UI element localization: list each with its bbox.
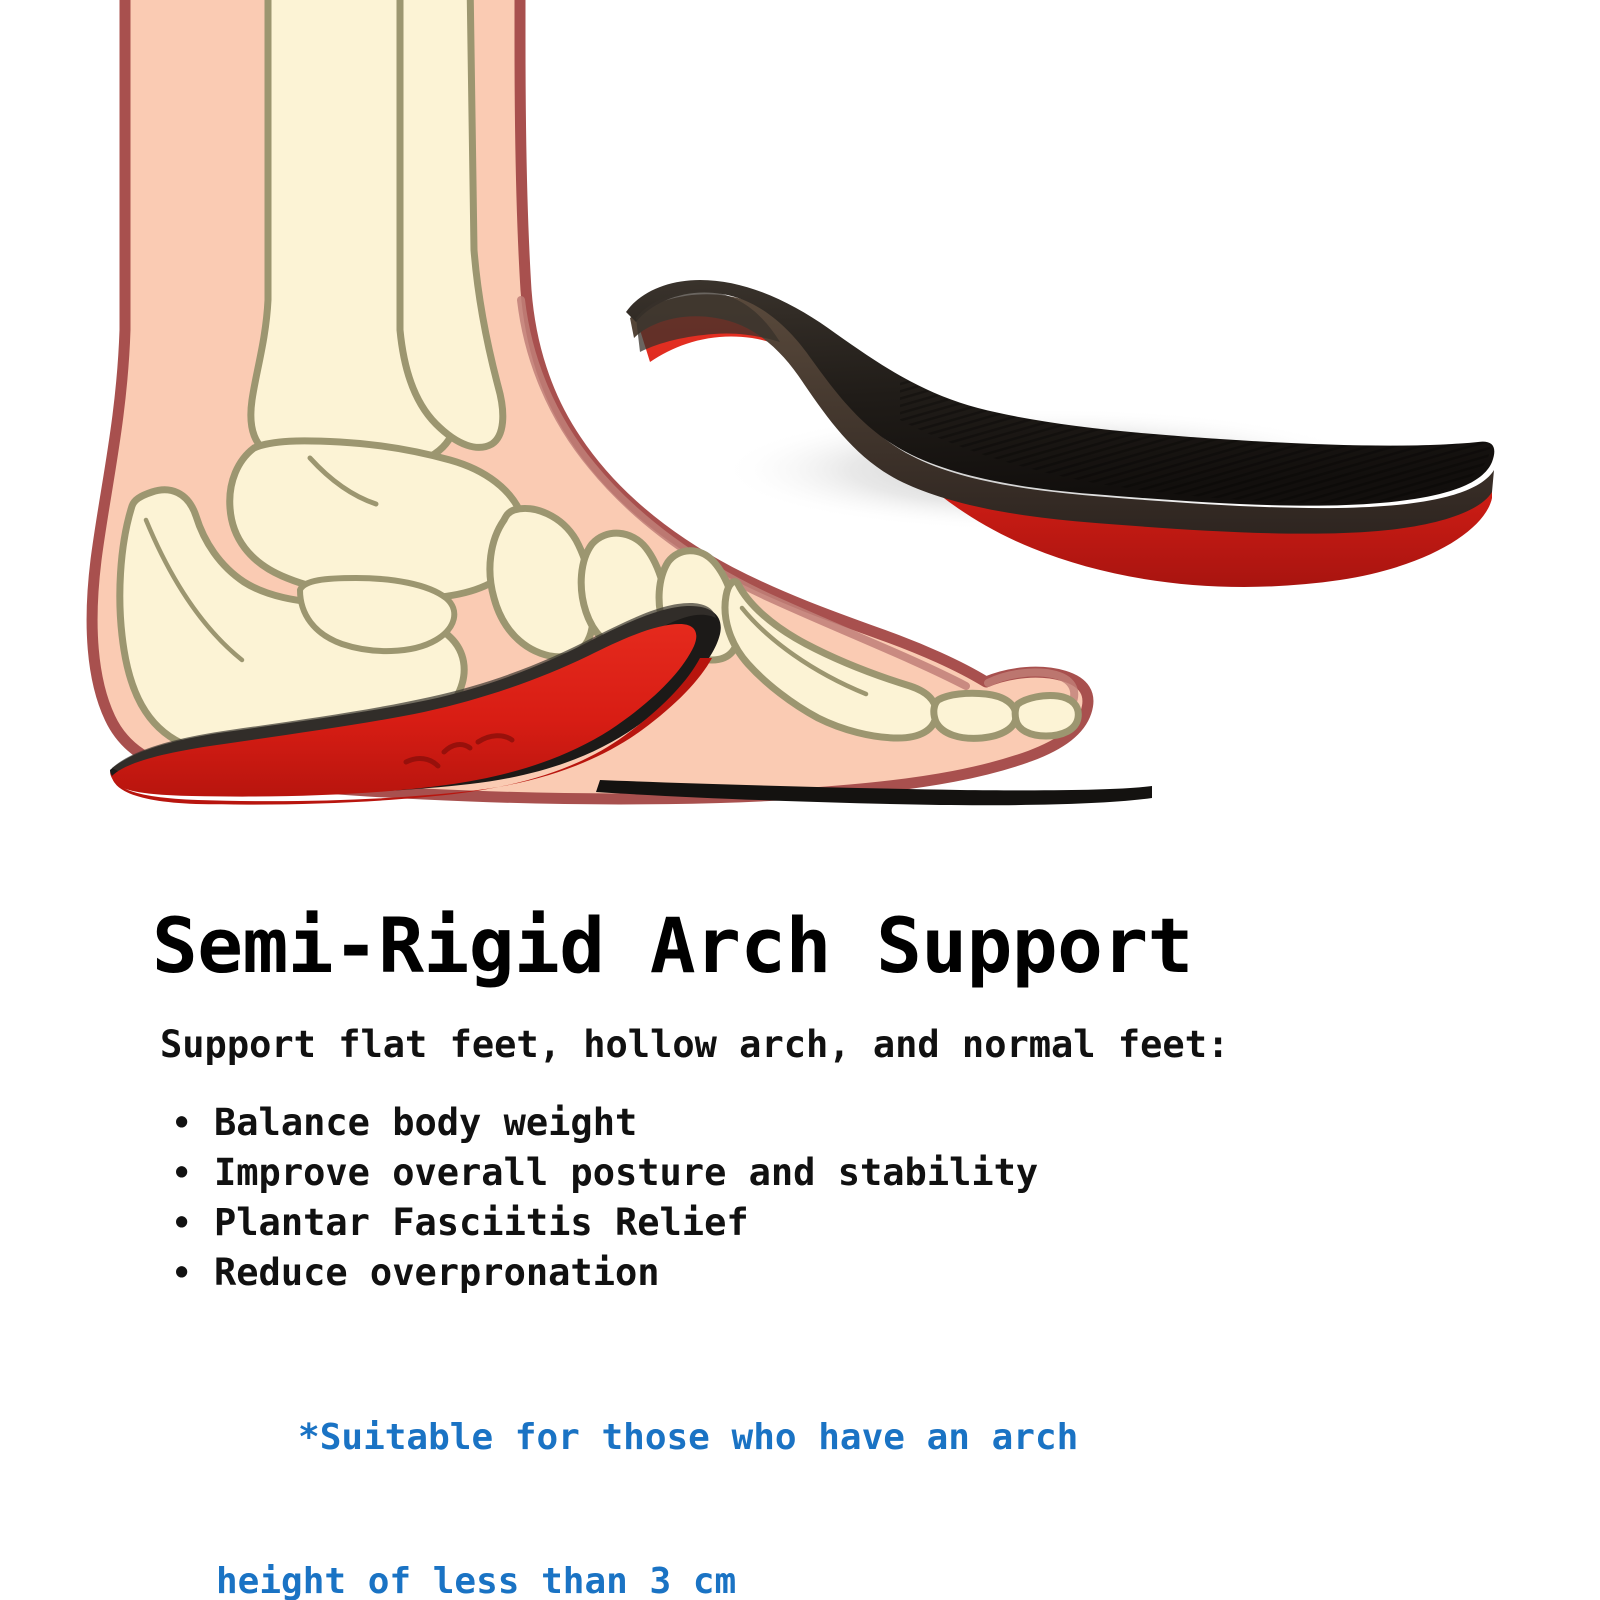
footnote-line-2: height of less than 3 cm: [168, 1558, 1078, 1600]
footnote: *Suitable for those who have an arch hei…: [168, 1366, 1078, 1600]
list-item-label: Reduce overpronation: [214, 1251, 660, 1294]
bullet-icon: •: [172, 1102, 190, 1144]
bone-distal-phalanx: [1015, 695, 1078, 736]
footnote-line-1: *Suitable for those who have an arch: [298, 1417, 1078, 1458]
list-item: • Balance body weight: [164, 1102, 1038, 1144]
product-infographic-page: Semi-Rigid Arch Support Support flat fee…: [0, 0, 1600, 1600]
subtitle: Support flat feet, hollow arch, and norm…: [160, 1026, 1229, 1063]
list-item-label: Plantar Fasciitis Relief: [214, 1201, 749, 1244]
list-item: • Plantar Fasciitis Relief: [164, 1202, 1038, 1244]
list-item-label: Improve overall posture and stability: [214, 1151, 1038, 1194]
product-copy-block: Semi-Rigid Arch Support Support flat fee…: [0, 880, 1600, 1600]
foot-anatomy-group: [92, 0, 1152, 811]
bullet-icon: •: [172, 1152, 190, 1194]
bullet-icon: •: [172, 1202, 190, 1244]
foot-anatomy-illustration: [0, 0, 1600, 880]
page-title: Semi-Rigid Arch Support: [152, 908, 1193, 984]
insole-product-photo: [626, 280, 1494, 587]
list-item-label: Balance body weight: [214, 1101, 637, 1144]
bone-proximal-phalanx: [934, 693, 1016, 738]
list-item: • Reduce overpronation: [164, 1252, 1038, 1294]
benefits-list: • Balance body weight • Improve overall …: [164, 1102, 1038, 1302]
bullet-icon: •: [172, 1252, 190, 1294]
list-item: • Improve overall posture and stability: [164, 1152, 1038, 1194]
